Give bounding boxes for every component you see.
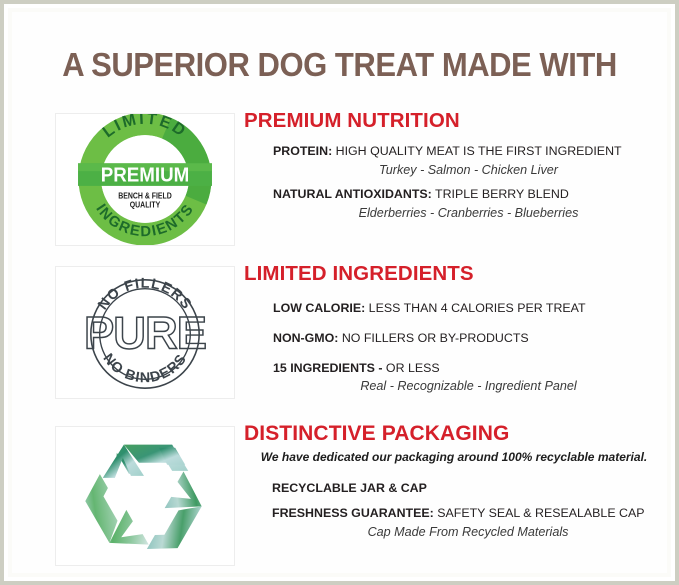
line-text: TRIPLE BERRY BLEND bbox=[432, 187, 569, 201]
line-text: SAFETY SEAL & RESEALABLE CAP bbox=[434, 506, 645, 520]
spacer bbox=[273, 317, 664, 330]
list-item: 15 INGREDIENTS - OR LESS bbox=[273, 360, 664, 377]
section-heading: DISTINCTIVE PACKAGING bbox=[244, 422, 664, 446]
section-heading: LIMITED INGREDIENTS bbox=[244, 262, 664, 286]
pure-no-fillers-no-binders-badge: NO FILLERS NO BINDERS PURE bbox=[56, 267, 234, 398]
spacer bbox=[273, 347, 664, 360]
list-item: LOW CALORIE: LESS THAN 4 CALORIES PER TR… bbox=[273, 300, 664, 317]
line-label: PROTEIN: bbox=[273, 144, 332, 158]
spacer bbox=[272, 498, 664, 505]
list-item-subtext: Elderberries - Cranberries - Blueberries bbox=[273, 204, 664, 222]
line-label: 15 INGREDIENTS - bbox=[273, 361, 382, 375]
line-label: LOW CALORIE: bbox=[273, 301, 365, 315]
line-text: NO FILLERS OR BY-PRODUCTS bbox=[338, 331, 528, 345]
line-text: OR LESS bbox=[382, 361, 439, 375]
badge-center-text: PREMIUM bbox=[101, 164, 190, 187]
line-label: NON-GMO: bbox=[273, 331, 338, 345]
list-item: NON-GMO: NO FILLERS OR BY-PRODUCTS bbox=[273, 330, 664, 347]
list-item: FRESHNESS GUARANTEE: SAFETY SEAL & RESEA… bbox=[272, 505, 664, 522]
list-item-subtext: Real - Recognizable - Ingredient Panel bbox=[273, 377, 664, 395]
recycle-symbol-icon bbox=[56, 427, 234, 565]
badge-center-text: PURE bbox=[84, 308, 206, 359]
premium-limited-ingredients-badge: LIMITED INGREDIENTS PREMIUM BENCH & FIEL… bbox=[56, 114, 234, 245]
pure-badge-box: NO FILLERS NO BINDERS PURE bbox=[55, 266, 235, 399]
list-item: NATURAL ANTIOXIDANTS: TRIPLE BERRY BLEND bbox=[273, 186, 664, 203]
page-title: A SUPERIOR DOG TREAT MADE WITH bbox=[24, 46, 655, 84]
section-heading: PREMIUM NUTRITION bbox=[244, 109, 664, 133]
line-text: LESS THAN 4 CALORIES PER TREAT bbox=[365, 301, 585, 315]
list-item-subtext: Cap Made From Recycled Materials bbox=[272, 523, 664, 541]
line-label: NATURAL ANTIOXIDANTS: bbox=[273, 187, 432, 201]
infographic-panel: A SUPERIOR DOG TREAT MADE WITH LIMITED I… bbox=[0, 0, 679, 585]
premium-badge-box: LIMITED INGREDIENTS PREMIUM BENCH & FIEL… bbox=[55, 113, 235, 246]
line-text: HIGH QUALITY MEAT IS THE FIRST INGREDIEN… bbox=[332, 144, 621, 158]
section-lines: RECYCLABLE JAR & CAP FRESHNESS GUARANTEE… bbox=[244, 480, 664, 541]
list-item: RECYCLABLE JAR & CAP bbox=[272, 480, 664, 497]
badge-sub2: QUALITY bbox=[130, 200, 160, 210]
section-tagline: We have dedicated our packaging around 1… bbox=[250, 450, 657, 464]
section-lines: LOW CALORIE: LESS THAN 4 CALORIES PER TR… bbox=[244, 300, 664, 395]
list-item: PROTEIN: HIGH QUALITY MEAT IS THE FIRST … bbox=[273, 143, 664, 160]
limited-ingredients-text: LIMITED INGREDIENTS LOW CALORIE: LESS TH… bbox=[244, 262, 664, 402]
section-lines: PROTEIN: HIGH QUALITY MEAT IS THE FIRST … bbox=[244, 143, 664, 222]
recycle-badge-box bbox=[55, 426, 235, 566]
premium-nutrition-text: PREMIUM NUTRITION PROTEIN: HIGH QUALITY … bbox=[244, 109, 664, 229]
line-label: RECYCLABLE JAR & CAP bbox=[272, 481, 427, 495]
list-item-subtext: Turkey - Salmon - Chicken Liver bbox=[273, 161, 664, 179]
distinctive-packaging-text: DISTINCTIVE PACKAGING We have dedicated … bbox=[244, 422, 664, 548]
line-label: FRESHNESS GUARANTEE: bbox=[272, 506, 434, 520]
